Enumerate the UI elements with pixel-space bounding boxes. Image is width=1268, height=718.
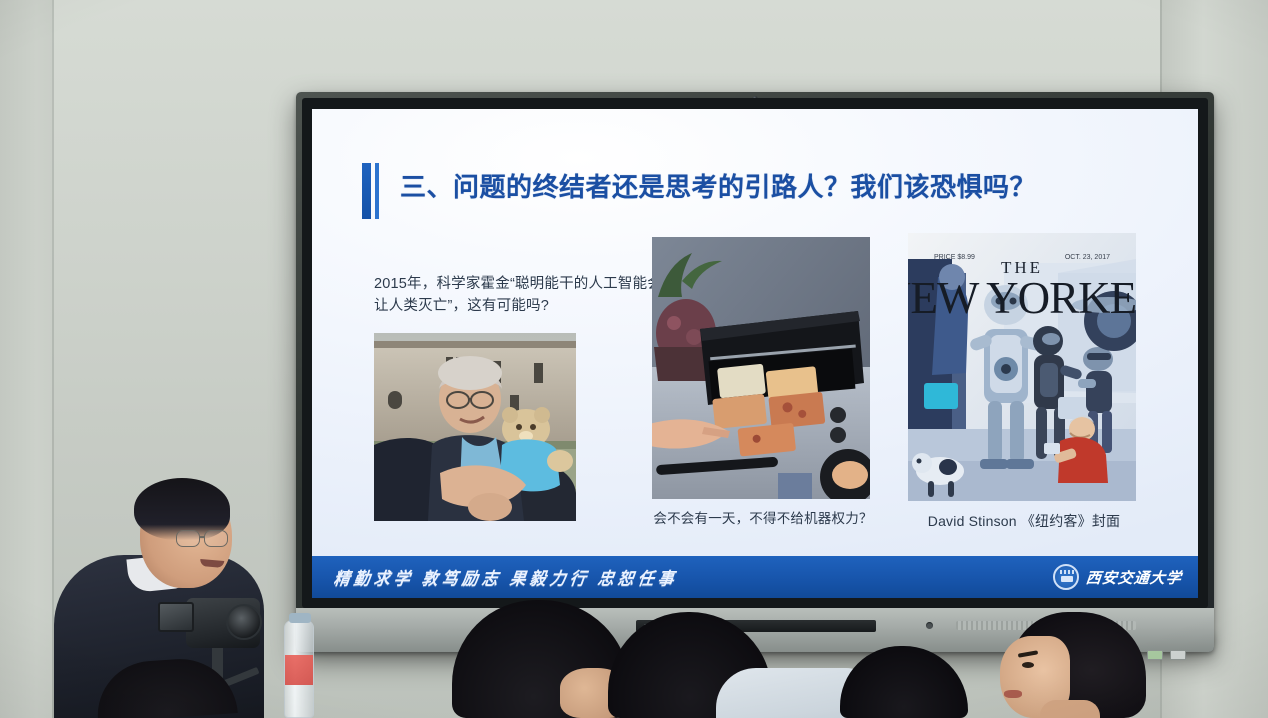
presenter-glasses-icon [176,530,234,548]
slide-title: 三、问题的终结者还是思考的引路人？我们该恐惧吗？ [400,167,1036,204]
xjtu-seal-icon [1053,564,1079,590]
display-sensor-icon [926,622,933,629]
svg-text:NEW YORKER: NEW YORKER [908,273,1136,323]
caption-toaster: 会不会有一天，不得不给机器权力？ [652,509,874,529]
slide-body-text: 2015年，科学家霍金“聪明能干的人工智能会让人类灭亡”，这有可能吗? [374,273,666,318]
toaster-oven-photo [652,237,870,499]
slide-footer-bar: 精勤求学 敦笃励志 果毅力行 忠恕任事 西安交通大学 [312,556,1198,598]
audience-woman-right-eye [1022,662,1034,668]
port-hdmi-icon[interactable] [1170,650,1186,660]
hawking-photo [374,333,576,521]
svg-text:PRICE $8.99: PRICE $8.99 [934,254,975,261]
camera-lens-icon [226,604,262,640]
wall-left-panel [0,0,52,718]
new-yorker-cover: THE NEW YORKER PRICE $8.99 OCT. 23, 2017 [908,233,1136,501]
water-bottle [284,620,314,718]
svg-text:OCT. 23, 2017: OCT. 23, 2017 [1065,254,1110,261]
interactive-display[interactable]: HIKVISION 三、问题的终结者还是思考的引路人？我们该恐惧吗？ 2015年… [296,92,1214,652]
presentation-slide[interactable]: 三、问题的终结者还是思考的引路人？我们该恐惧吗？ 2015年，科学家霍金“聪明能… [312,109,1198,598]
audience-woman-right-lip [1004,690,1022,698]
camera-flip-screen [158,602,194,632]
audience-woman-right-neck [1040,700,1100,718]
port-audio-icon[interactable] [1147,650,1163,660]
lecture-room-photo: HIKVISION 三、问题的终结者还是思考的引路人？我们该恐惧吗？ 2015年… [0,0,1268,718]
caption-new-yorker: David Stinson 《纽约客》封面 [908,511,1140,532]
display-bezel: 三、问题的终结者还是思考的引路人？我们该恐惧吗？ 2015年，科学家霍金“聪明能… [302,98,1208,608]
university-name-cn: 西安交通大学 [1085,567,1183,588]
title-accent-bars [362,163,379,219]
university-logo: 西安交通大学 [1053,564,1182,590]
university-motto: 精勤求学 敦笃励志 果毅力行 忠恕任事 [332,564,679,590]
wall-seam-line [52,0,54,718]
